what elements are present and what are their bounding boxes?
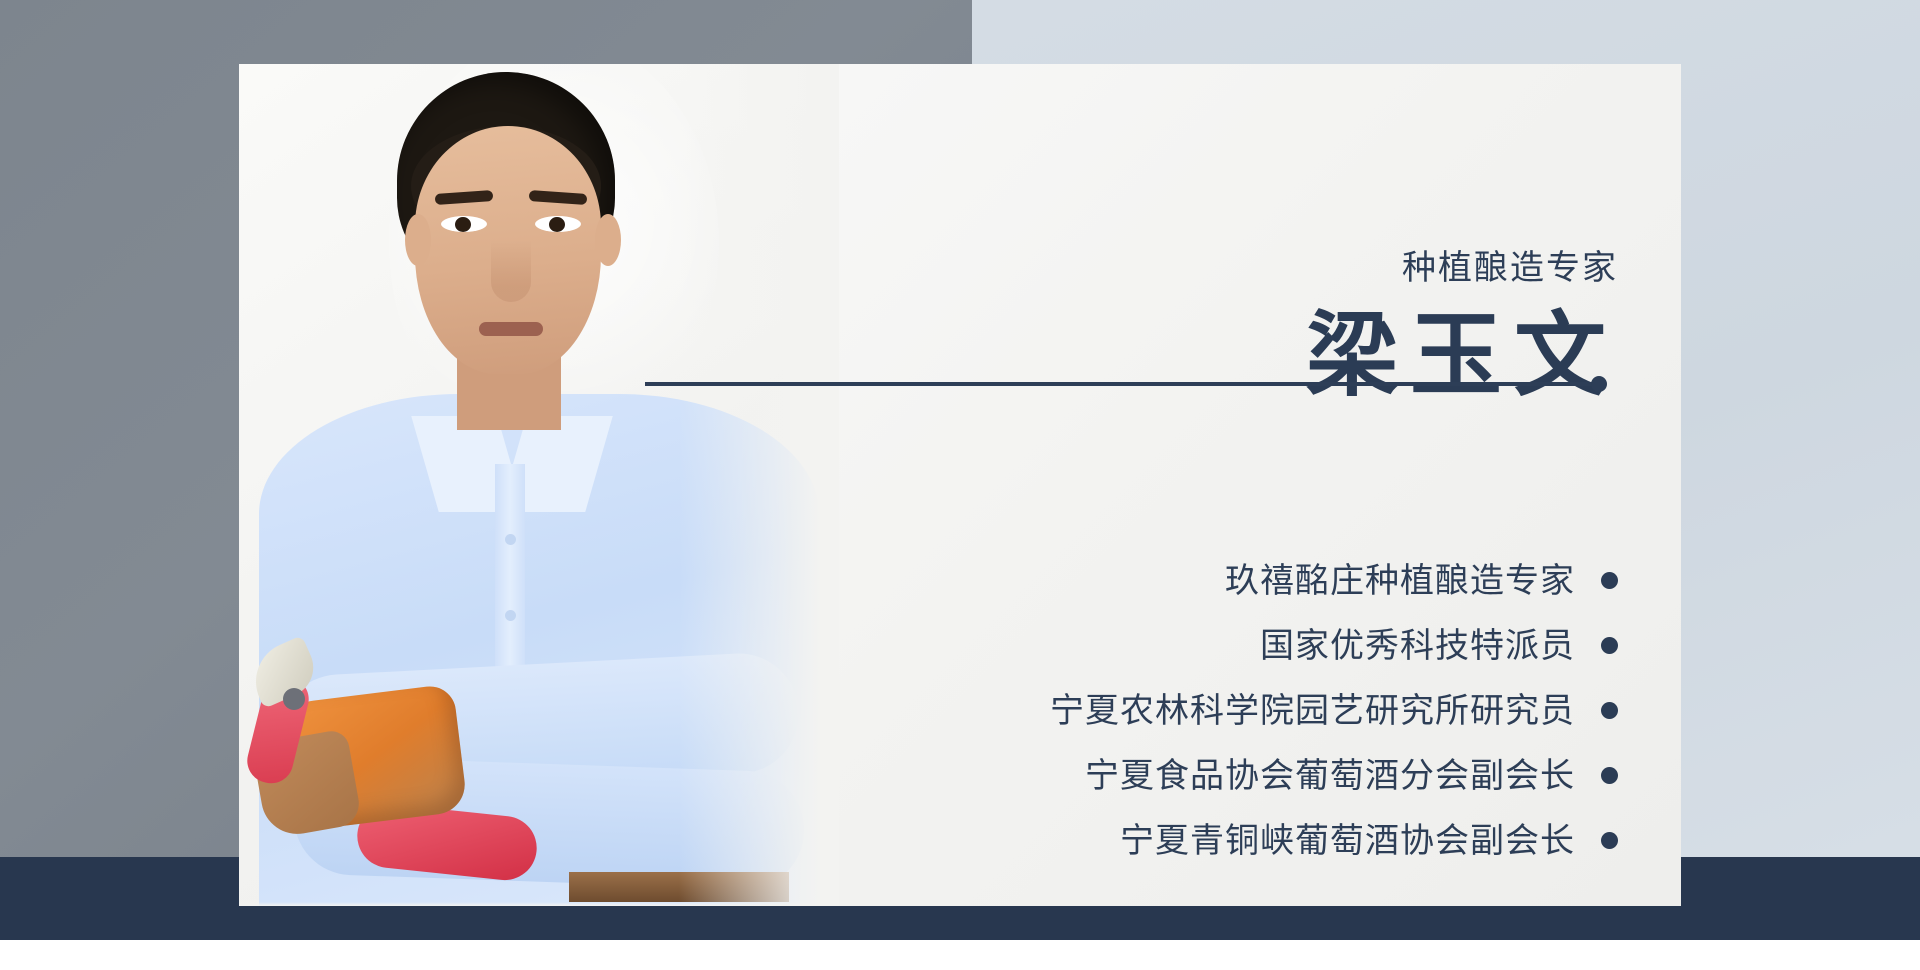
credential-text: 宁夏农林科学院园艺研究所研究员 bbox=[1050, 688, 1575, 734]
portrait-ear-right bbox=[595, 214, 621, 266]
pruning-shears-pivot bbox=[283, 688, 305, 710]
list-item: 国家优秀科技特派员 bbox=[718, 613, 1618, 678]
expert-profile-card: 种植酿造专家 梁玉文 玖禧酩庄种植酿造专家 国家优秀科技特派员 宁夏农林科学院园… bbox=[239, 64, 1681, 906]
portrait-shirt-button bbox=[505, 534, 516, 545]
poster-canvas: 种植酿造专家 梁玉文 玖禧酩庄种植酿造专家 国家优秀科技特派员 宁夏农林科学院园… bbox=[0, 0, 1920, 970]
bullet-dot-icon bbox=[1601, 767, 1618, 784]
divider-line bbox=[645, 382, 1600, 386]
expert-role-subtitle: 种植酿造专家 bbox=[1402, 246, 1618, 290]
credential-text: 宁夏青铜峡葡萄酒协会副会长 bbox=[1120, 818, 1575, 864]
credential-text: 宁夏食品协会葡萄酒分会副会长 bbox=[1085, 753, 1575, 799]
bullet-dot-icon bbox=[1601, 702, 1618, 719]
bullet-dot-icon bbox=[1601, 832, 1618, 849]
portrait-eye-right bbox=[535, 216, 581, 232]
divider-end-dot bbox=[1591, 376, 1607, 392]
list-item: 宁夏食品协会葡萄酒分会副会长 bbox=[718, 743, 1618, 808]
bullet-dot-icon bbox=[1601, 572, 1618, 589]
bullet-dot-icon bbox=[1601, 637, 1618, 654]
portrait-eye-left bbox=[441, 216, 487, 232]
credentials-list: 玖禧酩庄种植酿造专家 国家优秀科技特派员 宁夏农林科学院园艺研究所研究员 宁夏食… bbox=[718, 548, 1618, 873]
background-white-strip bbox=[0, 940, 1920, 970]
credential-text: 国家优秀科技特派员 bbox=[1260, 623, 1575, 669]
portrait-bottom-fade bbox=[239, 902, 839, 906]
credential-text: 玖禧酩庄种植酿造专家 bbox=[1225, 558, 1575, 604]
list-item: 宁夏农林科学院园艺研究所研究员 bbox=[718, 678, 1618, 743]
portrait-nose bbox=[491, 240, 531, 302]
portrait-mouth bbox=[479, 322, 543, 336]
expert-name: 梁玉文 bbox=[1306, 304, 1618, 408]
portrait-shirt-button bbox=[505, 610, 516, 621]
list-item: 宁夏青铜峡葡萄酒协会副会长 bbox=[718, 808, 1618, 873]
list-item: 玖禧酩庄种植酿造专家 bbox=[718, 548, 1618, 613]
portrait-ear-left bbox=[405, 214, 431, 266]
